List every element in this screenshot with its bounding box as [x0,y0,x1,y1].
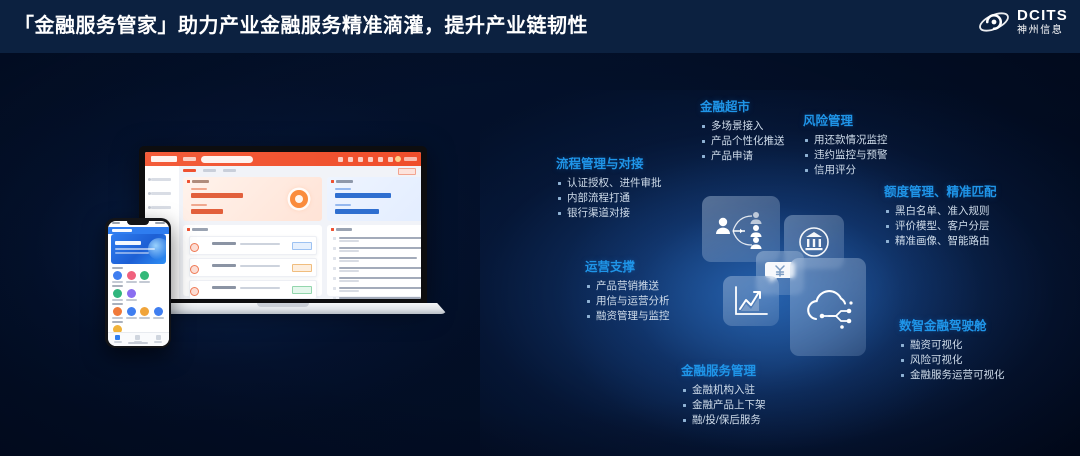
list-item: 金融机构入驻 [681,383,766,398]
stat-financing-total [191,188,243,198]
workflow-row[interactable] [189,258,317,277]
block-list: 融资可视化 风险可视化 金融服务运营可视化 [899,338,1005,383]
block-credit-limit-matching: 额度管理、精准匹配 黑白名单、准入规则 评价模型、客户分层 精准画像、智能路由 [884,181,997,249]
block-title: 额度管理、精准匹配 [884,181,997,200]
block-title: 流程管理与对接 [556,153,662,172]
phone-notch [127,221,149,225]
tab-1[interactable] [183,169,196,172]
dashboard-logo [151,156,177,162]
dashboard-icon-3[interactable] [358,157,363,162]
brand-name-en: DCITS [1017,8,1068,23]
phone-tab-home[interactable] [114,335,122,343]
stat-credit-total [335,188,391,198]
list-item: 融资可视化 [899,338,1005,353]
list-item: 金融服务运营可视化 [899,368,1005,383]
page-title: 「金融服务管家」助力产业金融服务精准滴灌，提升产业链韧性 [14,9,588,38]
list-item: 风险可视化 [899,353,1005,368]
brand-logo: DCITS 神州信息 [977,7,1068,37]
dashboard-search-input[interactable] [201,156,253,163]
list-item: 信用评分 [803,163,888,178]
swirl-galaxy-logo-icon [977,7,1011,37]
notice-item[interactable] [333,256,421,263]
list-item: 产品申请 [700,149,785,164]
dashboard-action-button[interactable] [398,168,416,175]
tab-3[interactable] [223,169,236,172]
list-item: 融资管理与监控 [585,309,670,324]
phone-navbar [108,227,169,234]
list-item: 认证授权、进件审批 [556,176,662,191]
phone-app-icon[interactable] [112,271,124,283]
stat-card-financing [183,177,322,221]
dashboard-content [179,166,421,299]
notice-panel-title [331,228,352,231]
notice-item[interactable] [333,276,421,283]
phone-mockup [105,218,171,348]
phone-app-icon-empty [139,289,151,301]
laptop-trackpad-notch [257,303,309,307]
icon-tile-cloud-network [790,258,866,356]
notice-item[interactable] [333,246,421,253]
growth-chart-icon [733,285,769,317]
list-item: 产品个性化推送 [700,134,785,149]
notice-panel [327,225,421,296]
notice-item[interactable] [333,296,421,299]
block-risk-management: 风险管理 用还款情况监控 违约监控与预警 信用评分 [803,110,888,178]
phone-app-icon-empty [153,289,165,301]
dashboard-ui [145,152,421,299]
block-list: 认证授权、进件审批 内部流程打通 银行渠道对接 [556,176,662,221]
slide-header: 「金融服务管家」助力产业金融服务精准滴灌，提升产业链韧性 DCITS 神州信息 [0,0,1080,53]
phone-hero-banner [111,234,166,264]
tab-2[interactable] [203,169,216,172]
card-heading-financing [187,180,209,183]
list-item: 多场景接入 [700,119,785,134]
phone-group-4-title [112,321,123,323]
phone-home-indicator [128,342,148,344]
block-title: 运营支撑 [585,256,670,275]
block-finance-supermarket: 金融超市 多场景接入 产品个性化推送 产品申请 [700,96,785,164]
workflow-row[interactable] [189,236,317,255]
list-item: 融/投/保后服务 [681,413,766,428]
dashboard-icon-2[interactable] [348,157,353,162]
block-title: 风险管理 [803,110,888,129]
list-item: 内部流程打通 [556,191,662,206]
block-digital-finance-cockpit: 数智金融驾驶舱 融资可视化 风险可视化 金融服务运营可视化 [899,315,1005,383]
block-list: 用还款情况监控 违约监控与预警 信用评分 [803,133,888,178]
block-list: 产品营销推送 用信与运营分析 融资管理与监控 [585,279,670,324]
phone-app-icon[interactable] [125,307,137,319]
phone-app-icon[interactable] [125,271,137,283]
block-operation-support: 运营支撑 产品营销推送 用信与运营分析 融资管理与监控 [585,256,670,324]
brand-name-cn: 神州信息 [1017,26,1068,36]
phone-icon-grid-1 [112,271,165,283]
workflow-row[interactable] [189,280,317,299]
laptop-lid [139,146,427,305]
list-item: 银行渠道对接 [556,206,662,221]
card-heading-credit [331,180,353,183]
phone-screen [108,221,169,346]
phone-app-icon[interactable] [153,307,165,319]
dashboard-tabs [183,169,236,172]
dashboard-menu [183,157,196,161]
phone-tab-profile[interactable] [154,335,162,343]
cloud-network-icon [799,284,857,330]
phone-app-icon[interactable] [112,289,124,301]
notice-item[interactable] [333,286,421,293]
dashboard-icon-1[interactable] [338,157,343,162]
dashboard-icon-4[interactable] [368,157,373,162]
list-item: 用还款情况监控 [803,133,888,148]
people-network-icon [713,208,769,250]
workflow-panel-title [187,228,208,231]
dashboard-username[interactable] [404,157,417,161]
slide-canvas: 「金融服务管家」助力产业金融服务精准滴灌，提升产业链韧性 DCITS 神州信息 [0,0,1080,456]
list-item: 产品营销推送 [585,279,670,294]
sidebar-item-2[interactable] [151,192,171,195]
icon-tile-growth-chart [723,276,779,326]
dashboard-icon-6[interactable] [388,157,393,162]
workflow-panel [183,225,322,296]
financing-donut-chart [290,190,308,208]
phone-app-icon[interactable] [125,289,137,301]
phone-app-icon-empty [153,271,165,283]
brand-text: DCITS 神州信息 [1017,8,1068,36]
list-item: 黑白名单、准入规则 [884,204,997,219]
block-list: 黑白名单、准入规则 评价模型、客户分层 精准画像、智能路由 [884,204,997,249]
phone-icon-grid-2 [112,289,165,301]
block-list: 金融机构入驻 金融产品上下架 融/投/保后服务 [681,383,766,428]
stat-card-credit [327,177,421,221]
block-title: 数智金融驾驶舱 [899,315,1005,334]
phone-group-2-title [112,285,123,287]
block-financial-service-management: 金融服务管理 金融机构入驻 金融产品上下架 融/投/保后服务 [681,360,766,428]
notice-item[interactable] [333,236,421,243]
stat-credit-today [335,204,379,214]
dashboard-topbar [145,152,421,166]
phone-group-1-title [112,267,123,269]
sidebar-item-3[interactable] [151,206,171,209]
phone-icon-grid-3 [112,307,165,319]
dashboard-avatar[interactable] [395,156,401,162]
laptop-mockup [139,146,427,316]
sidebar-item-1[interactable] [151,178,171,181]
laptop-screen [145,152,421,299]
list-item: 违约监控与预警 [803,148,888,163]
list-item: 用信与运营分析 [585,294,670,309]
block-list: 多场景接入 产品个性化推送 产品申请 [700,119,785,164]
dashboard-icon-5[interactable] [378,157,383,162]
stat-financing-today [191,204,223,214]
block-title: 金融服务管理 [681,360,766,379]
block-title: 金融超市 [700,96,785,115]
list-item: 精准画像、智能路由 [884,234,997,249]
phone-group-3-title [112,303,123,305]
phone-app-icon[interactable] [139,307,151,319]
block-process-management: 流程管理与对接 认证授权、进件审批 内部流程打通 银行渠道对接 [556,153,662,221]
phone-app-icon[interactable] [139,271,151,283]
list-item: 评价模型、客户分层 [884,219,997,234]
phone-app-icon[interactable] [112,307,124,319]
list-item: 金融产品上下架 [681,398,766,413]
notice-item[interactable] [333,266,421,273]
